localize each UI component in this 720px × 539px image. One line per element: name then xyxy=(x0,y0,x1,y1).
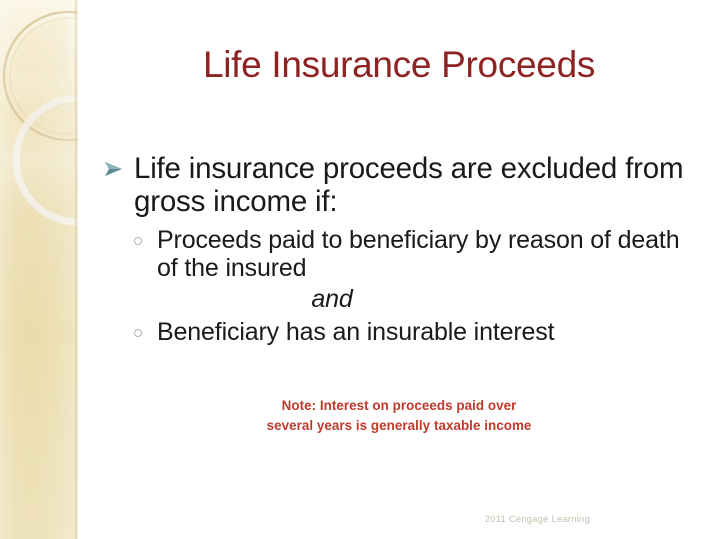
ring-dark-lobe xyxy=(10,18,68,76)
slide: Life Insurance Proceeds Life insurance p… xyxy=(0,0,720,539)
arrow-right-triangle-icon xyxy=(102,158,124,180)
hollow-circle-icon xyxy=(134,237,142,245)
bullet-level2-text-2: Beneficiary has an insurable interest xyxy=(157,318,554,346)
ring-light-inner xyxy=(21,103,78,217)
slide-title: Life Insurance Proceeds xyxy=(78,44,720,86)
decorative-sidebar xyxy=(0,0,78,539)
note-line-2: several years is generally taxable incom… xyxy=(78,416,720,436)
slide-content: Life Insurance Proceeds Life insurance p… xyxy=(78,0,720,539)
sidebar-rings-decoration xyxy=(0,0,78,539)
sidebar-sheen xyxy=(0,0,78,539)
bullet-level2-text-1: Proceeds paid to beneficiary by reason o… xyxy=(157,226,679,283)
slide-body: Life insurance proceeds are excluded fro… xyxy=(100,152,702,348)
bullet-level1: Life insurance proceeds are excluded fro… xyxy=(100,152,702,219)
bullet-level2-group: Proceeds paid to beneficiary by reason o… xyxy=(100,226,702,347)
sidebar-light-band xyxy=(0,118,78,210)
ring-light-outer xyxy=(16,98,78,222)
note-callout: Note: Interest on proceeds paid over sev… xyxy=(78,396,720,435)
copyright-footer: 2011 Cengage Learning xyxy=(485,513,590,524)
conjunction-and: and xyxy=(130,285,702,314)
bullet-level2-item-2: Beneficiary has an insurable interest xyxy=(130,318,702,347)
bullet-level1-text: Life insurance proceeds are excluded fro… xyxy=(134,152,683,218)
bullet-level2-item-1: Proceeds paid to beneficiary by reason o… xyxy=(130,226,702,283)
note-line-1: Note: Interest on proceeds paid over xyxy=(78,396,720,416)
hollow-circle-icon xyxy=(134,329,142,337)
ring-dark-inner xyxy=(10,18,78,134)
ring-dark-outer xyxy=(4,12,78,140)
